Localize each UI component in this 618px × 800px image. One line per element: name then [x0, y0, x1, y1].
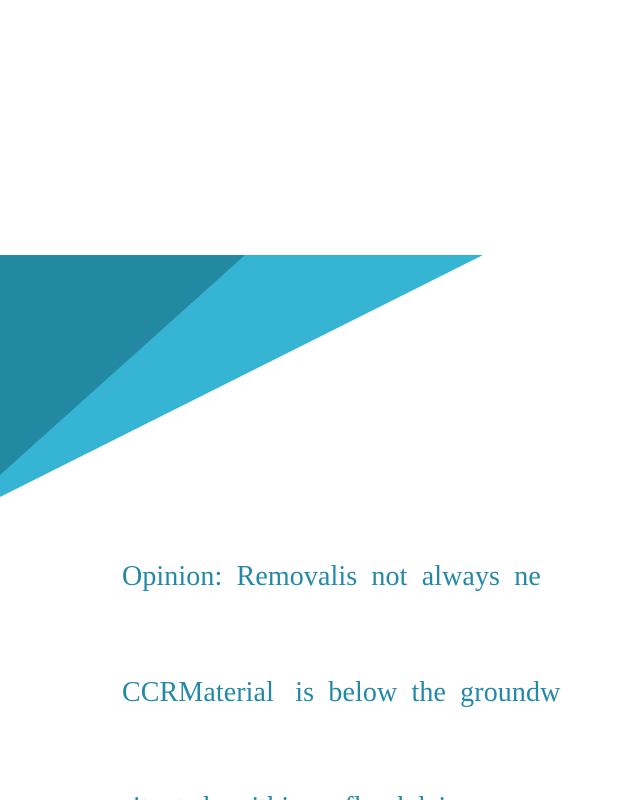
body-text-line-1: Opinion: Removalis not always ne	[122, 558, 618, 597]
dark-teal-triangle-icon	[0, 255, 245, 475]
body-text-line-2: CCRMaterial is below the groundw	[122, 674, 618, 713]
light-cyan-triangle-icon	[0, 255, 483, 497]
body-text-line-3: situated within a floodplain.	[122, 789, 618, 800]
slide-body-text: Opinion: Removalis not always ne CCRMate…	[122, 481, 618, 800]
slide-canvas: Opinion: Removalis not always ne CCRMate…	[0, 0, 618, 800]
